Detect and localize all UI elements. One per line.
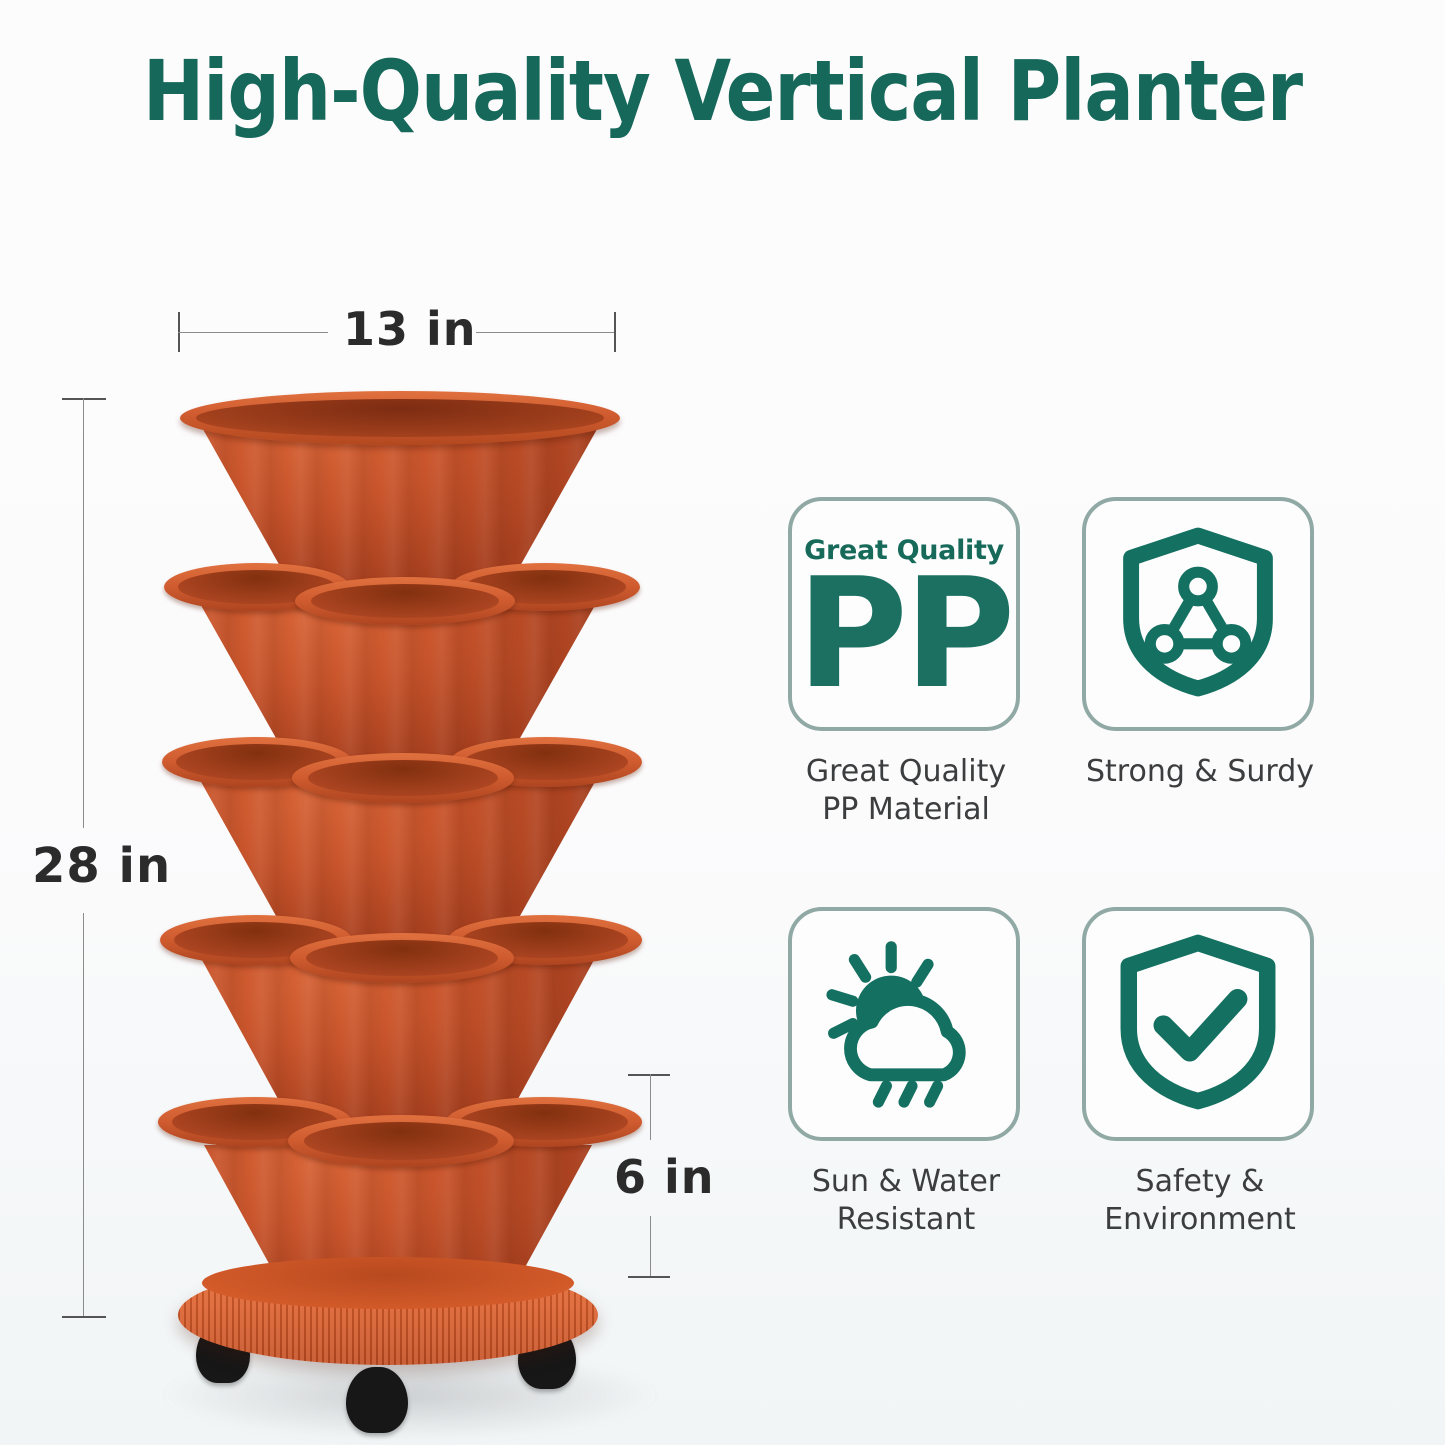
sun-cloud-rain-icon: [816, 934, 992, 1115]
width-label: 13 in: [343, 302, 477, 356]
caddy-top-face: [202, 1257, 574, 1309]
feature-card-1: Great Quality PP: [788, 497, 1020, 731]
height-cap-top: [62, 398, 106, 400]
product-image-vertical-planter: [150, 385, 670, 1445]
feature-safety-environment: Safety & Environment: [1082, 907, 1318, 1240]
height-line-bottom: [83, 913, 84, 1318]
shield-triangle-icon: [1116, 526, 1280, 703]
tier-4-pocket-front: [290, 933, 514, 983]
pp-material-icon: Great Quality PP: [797, 531, 1012, 697]
tier-3-pocket-front: [292, 753, 514, 803]
feature-card-2: [1082, 497, 1314, 731]
feature-caption-2: Strong & Surdy: [1082, 753, 1318, 791]
feature-strong-sturdy: Strong & Surdy: [1082, 497, 1318, 791]
shield-check-icon: [1113, 933, 1283, 1116]
feature-caption-1: Great Quality PP Material: [788, 753, 1024, 830]
feature-caption-3: Sun & Water Resistant: [788, 1163, 1024, 1240]
feature-great-quality-pp: Great Quality PP Great Quality PP Materi…: [788, 497, 1024, 830]
width-cap-right: [614, 312, 616, 352]
infographic-canvas: High-Quality Vertical Planter 13 in 28 i…: [0, 0, 1445, 1445]
width-line-right: [476, 332, 616, 333]
caster-wheel-front: [346, 1367, 408, 1433]
width-line-left: [178, 332, 328, 333]
feature-card-3: [788, 907, 1020, 1141]
tier-5-pocket-front: [288, 1115, 514, 1167]
height-cap-bottom: [62, 1316, 106, 1318]
tier-2-pocket-front: [295, 577, 515, 625]
feature-caption-4: Safety & Environment: [1082, 1163, 1318, 1240]
feature-card-4: [1082, 907, 1314, 1141]
tier-1-rim: [180, 391, 620, 445]
height-line-top: [83, 398, 84, 828]
page-title: High-Quality Vertical Planter: [22, 42, 1424, 140]
feature-sun-water-resistant: Sun & Water Resistant: [788, 907, 1024, 1240]
